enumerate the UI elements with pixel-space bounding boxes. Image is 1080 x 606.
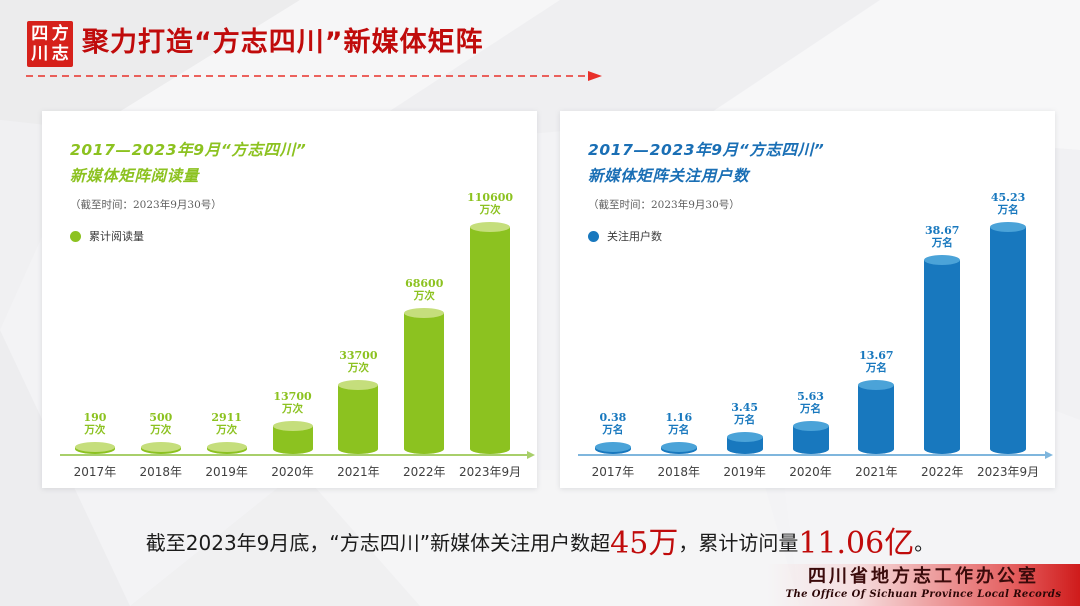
seal-logo: 四 方 川 志 — [27, 21, 73, 67]
bar-cylinder — [338, 380, 378, 454]
x-axis-tick-label: 2020年 — [260, 463, 326, 480]
bar-value-label: 45.23万名 — [991, 191, 1025, 217]
x-axis-tick-label: 2018年 — [128, 463, 194, 480]
bar-cylinder — [141, 442, 181, 454]
bar-top-ellipse — [404, 308, 444, 318]
bar-value-unit: 万名 — [859, 362, 893, 375]
page-title: 聚力打造“方志四川”新媒体矩阵 — [82, 20, 484, 66]
bar-item[interactable]: 500万次 — [128, 411, 194, 454]
bar-top-ellipse — [924, 255, 960, 265]
bar-value-unit: 万次 — [211, 424, 242, 437]
left-chart-title-line1: 2017—2023年9月“方志四川” — [70, 137, 565, 163]
bar-value-unit: 万次 — [83, 424, 106, 437]
bar-value-label: 0.38万名 — [600, 411, 627, 437]
x-axis-line — [60, 454, 527, 456]
x-axis-tick-label: 2023年9月 — [457, 463, 523, 480]
bar-value-label: 3.45万名 — [731, 401, 758, 427]
bar-cylinder — [990, 222, 1026, 454]
bar-value-unit: 万次 — [467, 204, 513, 217]
bar-body — [858, 385, 894, 454]
bar-cylinder — [727, 432, 763, 454]
x-axis-tick-label: 2017年 — [580, 463, 646, 480]
right-chart-title-line1: 2017—2023年9月“方志四川” — [588, 137, 1080, 163]
bar-series: 190万次500万次2911万次13700万次33700万次68600万次110… — [62, 191, 523, 454]
bar-value-number: 68600 — [405, 277, 443, 290]
bar-value-unit: 万名 — [925, 237, 959, 250]
x-axis-tick-label: 2022年 — [391, 463, 457, 480]
seal-char-3: 川 — [30, 45, 50, 65]
bar-value-number: 110600 — [467, 191, 513, 204]
bar-value-unit: 万次 — [273, 403, 311, 416]
bar-value-label: 13.67万名 — [859, 349, 893, 375]
bar-cylinder — [273, 421, 313, 454]
bar-value-unit: 万次 — [149, 424, 172, 437]
bar-value-label: 500万次 — [149, 411, 172, 437]
bar-top-ellipse — [595, 442, 631, 452]
bar-item[interactable]: 190万次 — [62, 411, 128, 454]
x-axis-tick-label: 2019年 — [194, 463, 260, 480]
bar-cylinder — [75, 442, 115, 454]
bar-value-unit: 万名 — [731, 414, 758, 427]
bar-value-label: 13700万次 — [273, 390, 311, 416]
x-axis-labels: 2017年2018年2019年2020年2021年2022年2023年9月 — [580, 463, 1041, 480]
bar-item[interactable]: 68600万次 — [391, 277, 457, 454]
bar-value-unit: 万名 — [665, 424, 692, 437]
bar-body — [990, 227, 1026, 454]
bar-item[interactable]: 13700万次 — [260, 390, 326, 454]
bar-value-label: 190万次 — [83, 411, 106, 437]
bar-value-unit: 万次 — [405, 290, 443, 303]
bar-value-label: 2911万次 — [211, 411, 242, 437]
bar-item[interactable]: 0.38万名 — [580, 411, 646, 454]
x-axis-line — [578, 454, 1045, 456]
summary-caption: 截至2023年9月底，“方志四川”新媒体关注用户数超45万，累计访问量11.06… — [0, 518, 1080, 562]
bar-top-ellipse — [141, 442, 181, 452]
footer-name-en: The Office Of Sichuan Province Local Rec… — [767, 588, 1080, 601]
seal-char-4: 志 — [51, 45, 71, 65]
bar-top-ellipse — [75, 442, 115, 452]
seal-char-1: 四 — [30, 24, 50, 44]
x-axis-tick-label: 2019年 — [712, 463, 778, 480]
bar-value-unit: 万名 — [991, 204, 1025, 217]
bar-body — [338, 385, 378, 454]
x-axis-tick-label: 2018年 — [646, 463, 712, 480]
bar-value-label: 110600万次 — [467, 191, 513, 217]
bar-value-number: 45.23 — [991, 191, 1025, 204]
bar-top-ellipse — [273, 421, 313, 431]
caption-part3: 。 — [914, 531, 934, 555]
bar-item[interactable]: 2911万次 — [194, 411, 260, 454]
left-chart-plot: 190万次500万次2911万次13700万次33700万次68600万次110… — [42, 168, 537, 488]
bar-value-number: 33700 — [339, 349, 377, 362]
x-axis-tick-label: 2021年 — [325, 463, 391, 480]
caption-highlight-followers: 45万 — [610, 526, 678, 561]
bar-top-ellipse — [793, 421, 829, 431]
x-axis-labels: 2017年2018年2019年2020年2021年2022年2023年9月 — [62, 463, 523, 480]
bar-item[interactable]: 110600万次 — [457, 191, 523, 454]
bar-item[interactable]: 5.63万名 — [778, 390, 844, 454]
bar-top-ellipse — [207, 442, 247, 452]
x-axis-tick-label: 2021年 — [843, 463, 909, 480]
x-axis-tick-label: 2022年 — [909, 463, 975, 480]
bar-series: 0.38万名1.16万名3.45万名5.63万名13.67万名38.67万名45… — [580, 191, 1041, 454]
footer-name-cn: 四川省地方志工作办公室 — [767, 566, 1080, 588]
bar-cylinder — [470, 222, 510, 454]
bar-cylinder — [207, 442, 247, 454]
bar-value-label: 1.16万名 — [665, 411, 692, 437]
bar-value-number: 500 — [149, 411, 172, 424]
x-axis-tick-label: 2020年 — [778, 463, 844, 480]
bar-item[interactable]: 1.16万名 — [646, 411, 712, 454]
bar-body — [470, 227, 510, 454]
bar-cylinder — [924, 255, 960, 454]
reading-volume-chart-card: 2017—2023年9月“方志四川” 新媒体矩阵阅读量 （截至时间：2023年9… — [42, 111, 537, 488]
bar-cylinder — [793, 421, 829, 454]
bar-item[interactable]: 38.67万名 — [909, 224, 975, 454]
x-axis-arrow-icon — [1045, 451, 1053, 459]
bar-cylinder — [661, 442, 697, 454]
dashed-arrow-icon — [26, 70, 606, 82]
bar-value-number: 190 — [83, 411, 106, 424]
caption-part2: ，累计访问量 — [678, 531, 798, 555]
slide-header: 四 方 川 志 聚力打造“方志四川”新媒体矩阵 — [0, 0, 1080, 100]
bar-item[interactable]: 13.67万名 — [843, 349, 909, 454]
bar-value-label: 38.67万名 — [925, 224, 959, 250]
bar-value-number: 13700 — [273, 390, 311, 403]
bar-value-number: 5.63 — [797, 390, 824, 403]
x-axis-arrow-icon — [527, 451, 535, 459]
bar-top-ellipse — [661, 442, 697, 452]
follower-count-chart-card: 2017—2023年9月“方志四川” 新媒体矩阵关注用户数 （截至时间：2023… — [560, 111, 1055, 488]
bar-value-number: 0.38 — [600, 411, 627, 424]
x-axis-tick-label: 2017年 — [62, 463, 128, 480]
bar-body — [404, 313, 444, 454]
bar-value-unit: 万名 — [797, 403, 824, 416]
bar-cylinder — [595, 442, 631, 454]
bar-value-number: 3.45 — [731, 401, 758, 414]
bar-value-label: 68600万次 — [405, 277, 443, 303]
caption-part1: 截至2023年9月底，“方志四川”新媒体关注用户数超 — [146, 531, 610, 555]
organization-footer: 四川省地方志工作办公室 The Office Of Sichuan Provin… — [767, 564, 1080, 606]
right-chart-plot: 0.38万名1.16万名3.45万名5.63万名13.67万名38.67万名45… — [560, 168, 1055, 488]
bar-value-unit: 万名 — [600, 424, 627, 437]
bar-cylinder — [858, 380, 894, 454]
bar-value-number: 1.16 — [665, 411, 692, 424]
bar-value-label: 5.63万名 — [797, 390, 824, 416]
bar-item[interactable]: 33700万次 — [325, 349, 391, 454]
bar-value-number: 2911 — [211, 411, 242, 424]
bar-item[interactable]: 3.45万名 — [712, 401, 778, 454]
bar-item[interactable]: 45.23万名 — [975, 191, 1041, 454]
bar-top-ellipse — [470, 222, 510, 232]
bar-value-number: 38.67 — [925, 224, 959, 237]
bar-top-ellipse — [727, 432, 763, 442]
bar-cylinder — [404, 308, 444, 454]
bar-top-ellipse — [990, 222, 1026, 232]
bar-value-number: 13.67 — [859, 349, 893, 362]
caption-highlight-visits: 11.06亿 — [798, 526, 914, 561]
bar-body — [924, 260, 960, 454]
bar-value-unit: 万次 — [339, 362, 377, 375]
seal-char-2: 方 — [51, 24, 71, 44]
x-axis-tick-label: 2023年9月 — [975, 463, 1041, 480]
bar-value-label: 33700万次 — [339, 349, 377, 375]
